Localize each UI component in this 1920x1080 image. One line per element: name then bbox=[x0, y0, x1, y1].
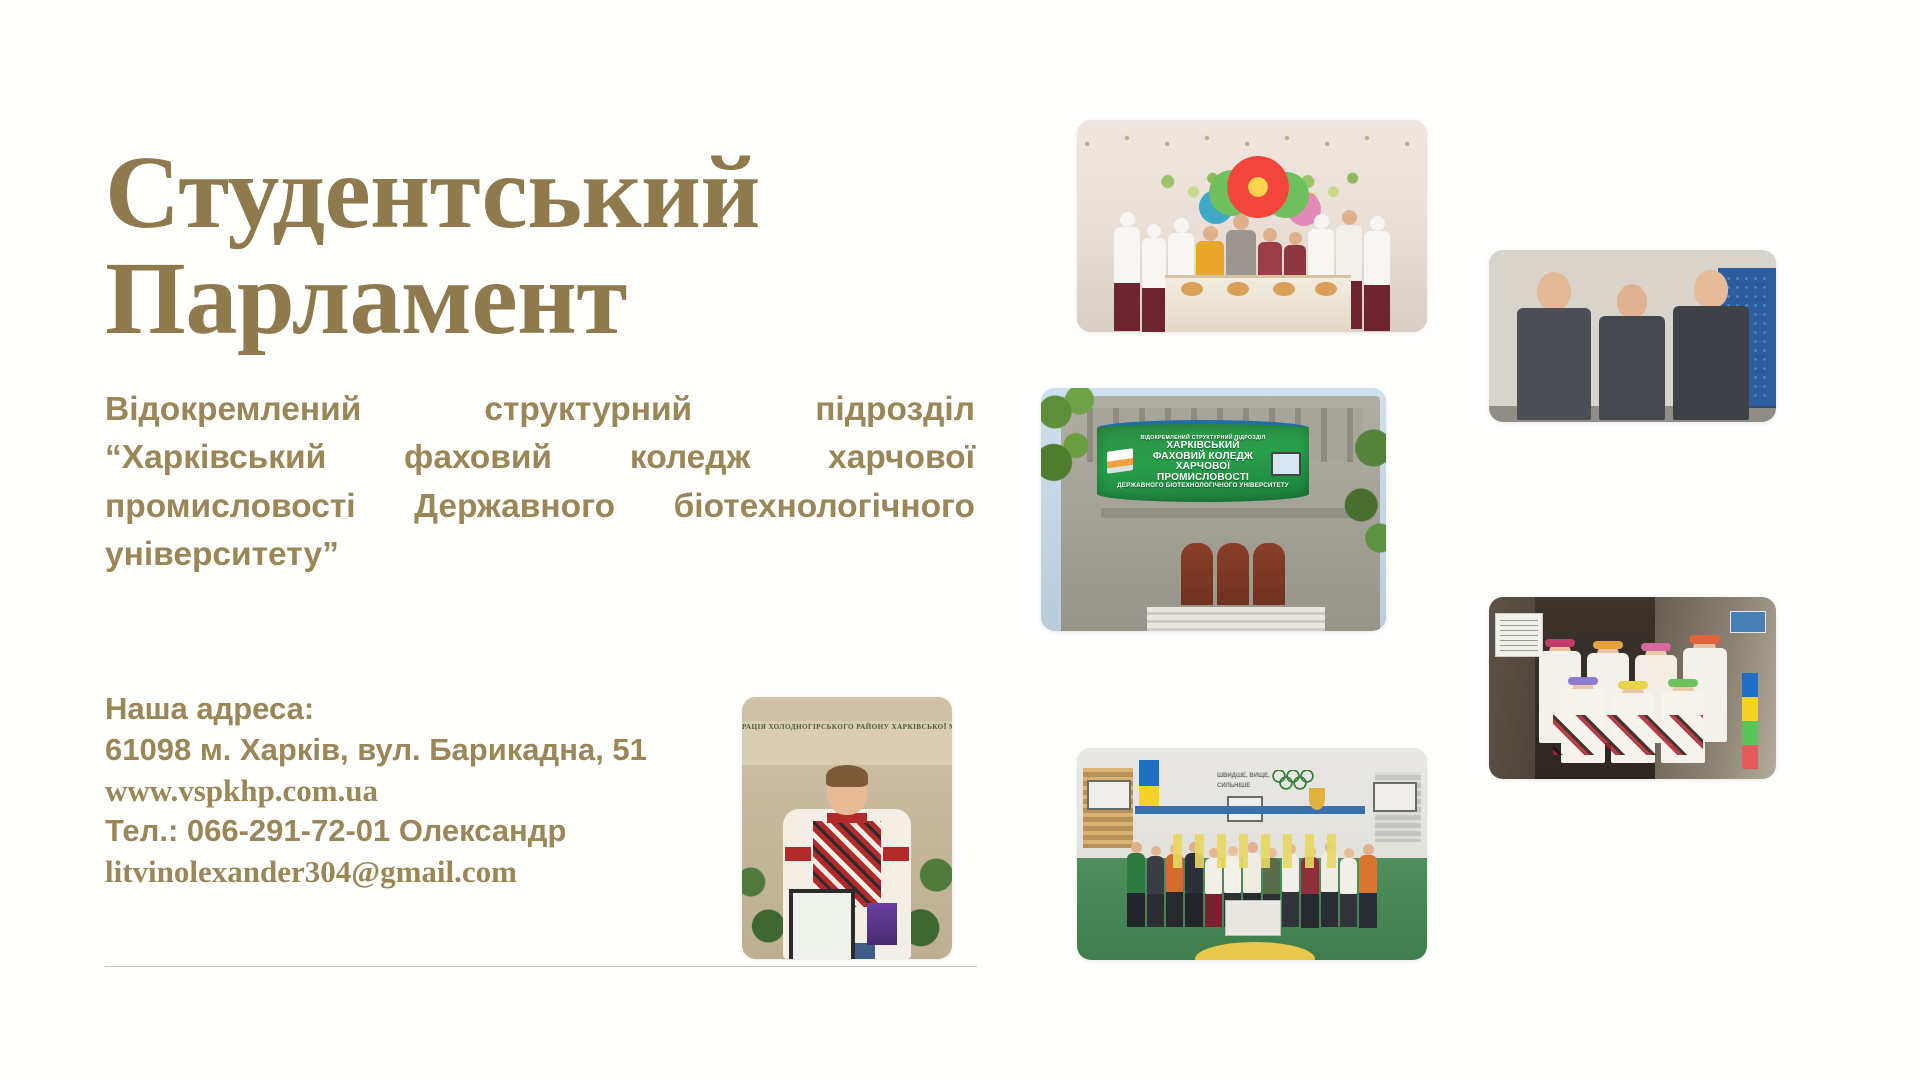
award-recipient bbox=[783, 769, 911, 959]
horizontal-divider bbox=[105, 966, 977, 967]
ukrainian-flag bbox=[1139, 760, 1159, 812]
page-title: Студентський Парламент bbox=[105, 140, 985, 352]
hair bbox=[826, 765, 868, 787]
framed-certificate bbox=[789, 889, 855, 959]
building-banner: ВІДОКРЕМЛЕНИЙ СТРУКТУРНИЙ ПІДРОЗДІЛ ХАРК… bbox=[1097, 420, 1309, 502]
banner-line-6: ДЕРЖАВНОГО БІОТЕХНОЛОГІЧНОГО УНІВЕРСИТЕТ… bbox=[1117, 483, 1289, 490]
banner-monitor-icon bbox=[1271, 452, 1301, 476]
certificates bbox=[1173, 834, 1343, 868]
sleeve-embroidery-left bbox=[785, 847, 811, 861]
tree-right bbox=[1324, 418, 1386, 568]
door bbox=[1181, 543, 1213, 605]
award-booklet bbox=[867, 903, 897, 945]
baked-goods bbox=[1181, 282, 1203, 296]
embroidery-pattern bbox=[1553, 715, 1703, 755]
sleeve-embroidery-right bbox=[883, 847, 909, 861]
photo-culinary-group bbox=[1077, 120, 1427, 332]
door bbox=[1217, 543, 1249, 605]
awards-table bbox=[1225, 900, 1281, 936]
baked-goods bbox=[1227, 282, 1249, 296]
photo-award-portrait: РАЦІЯ ХОЛОДНОГІРСЬКОГО РАЙОНУ ХАРКІВСЬКО… bbox=[742, 697, 952, 959]
basketball-hoop-right bbox=[1373, 782, 1417, 812]
baked-goods bbox=[1273, 282, 1295, 296]
wall-sign bbox=[1730, 611, 1766, 633]
door bbox=[1253, 543, 1285, 605]
signboard-text: РАЦІЯ ХОЛОДНОГІРСЬКОГО РАЙОНУ ХАРКІВСЬКО… bbox=[742, 721, 952, 735]
basketball-hoop-left bbox=[1087, 780, 1131, 810]
plant-left bbox=[742, 849, 786, 959]
ribbon-sash bbox=[1742, 673, 1758, 769]
people-row bbox=[1489, 272, 1776, 422]
photo-vyshyvanka-girls bbox=[1489, 597, 1776, 779]
gym-rail bbox=[1135, 806, 1365, 814]
photo-gym-awards: ШВИДШЕ, ВИЩЕ, СИЛЬНІШЕ bbox=[1077, 748, 1427, 960]
tree-left bbox=[1041, 388, 1111, 508]
presentation-slide: Студентський Парламент Відокремлений стр… bbox=[0, 0, 1920, 1080]
organization-description: Відокремлений структурний підрозділ “Хар… bbox=[105, 386, 975, 627]
trophy-cup bbox=[1309, 788, 1325, 810]
entrance-steps bbox=[1147, 607, 1325, 631]
baked-goods bbox=[1315, 282, 1337, 296]
wall-signboard: РАЦІЯ ХОЛОДНОГІРСЬКОГО РАЙОНУ ХАРКІВСЬКО… bbox=[742, 721, 952, 765]
photo-college-building: ВІДОКРЕМЛЕНИЙ СТРУКТУРНИЙ ПІДРОЗДІЛ ХАРК… bbox=[1041, 388, 1386, 631]
photo-workshop-students bbox=[1489, 250, 1776, 422]
mural-border bbox=[1077, 134, 1427, 146]
facade-cornice bbox=[1101, 508, 1356, 518]
entrance-doors bbox=[1181, 543, 1285, 605]
